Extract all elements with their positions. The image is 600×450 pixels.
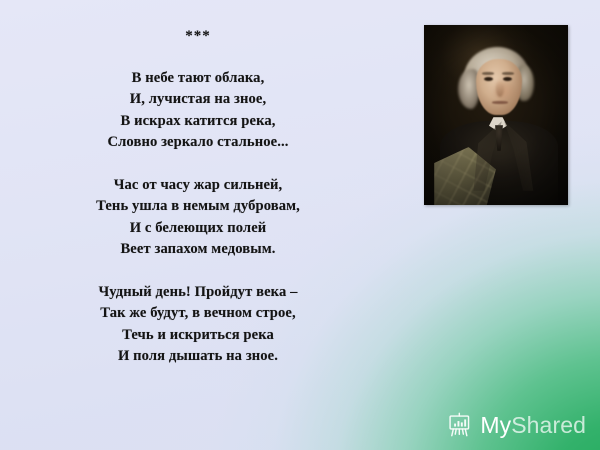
poem-line: В небе тают облака, — [18, 68, 378, 90]
poem-block: *** В небе тают облака, И, лучистая на з… — [18, 26, 378, 368]
presentation-board-chart-icon — [447, 412, 472, 438]
portrait-image — [424, 25, 568, 205]
poem-line: Чудный день! Пройдут века – — [18, 282, 378, 304]
portrait-eye-left — [484, 77, 493, 81]
poem-line: И поля дышать на зное. — [18, 346, 378, 368]
poem-stanza-1: В небе тают облака, И, лучистая на зное,… — [18, 68, 378, 154]
poem-line: Словно зеркало стальное... — [18, 132, 378, 154]
poem-line: Веет запахом медовым. — [18, 239, 378, 261]
brand-shared: Shared — [511, 412, 586, 438]
portrait-painting-canvas — [424, 25, 568, 205]
poem-line: И, лучистая на зное, — [18, 89, 378, 111]
poem-title-marker: *** — [18, 26, 378, 48]
portrait-eye-right — [503, 77, 512, 81]
portrait-brow-left — [482, 72, 494, 75]
poem-line: В искрах катится река, — [18, 111, 378, 133]
myshared-watermark[interactable]: MyShared — [447, 412, 586, 438]
portrait-mouth — [492, 101, 508, 104]
poem-line: Тень ушла в немым дубровам, — [18, 196, 378, 218]
myshared-brand-text: MyShared — [480, 414, 586, 437]
poem-line: Так же будут, в вечном строе, — [18, 303, 378, 325]
portrait-brow-right — [502, 72, 514, 75]
brand-my: My — [480, 412, 511, 438]
poem-stanza-2: Час от часу жар сильней, Тень ушла в нем… — [18, 175, 378, 261]
poem-line: И с белеющих полей — [18, 218, 378, 240]
poem-line: Час от часу жар сильней, — [18, 175, 378, 197]
poem-stanza-3: Чудный день! Пройдут века – Так же будут… — [18, 282, 378, 368]
portrait-nose — [496, 81, 504, 97]
slide-canvas: *** В небе тают облака, И, лучистая на з… — [0, 0, 600, 450]
poem-line: Течь и искриться река — [18, 325, 378, 347]
